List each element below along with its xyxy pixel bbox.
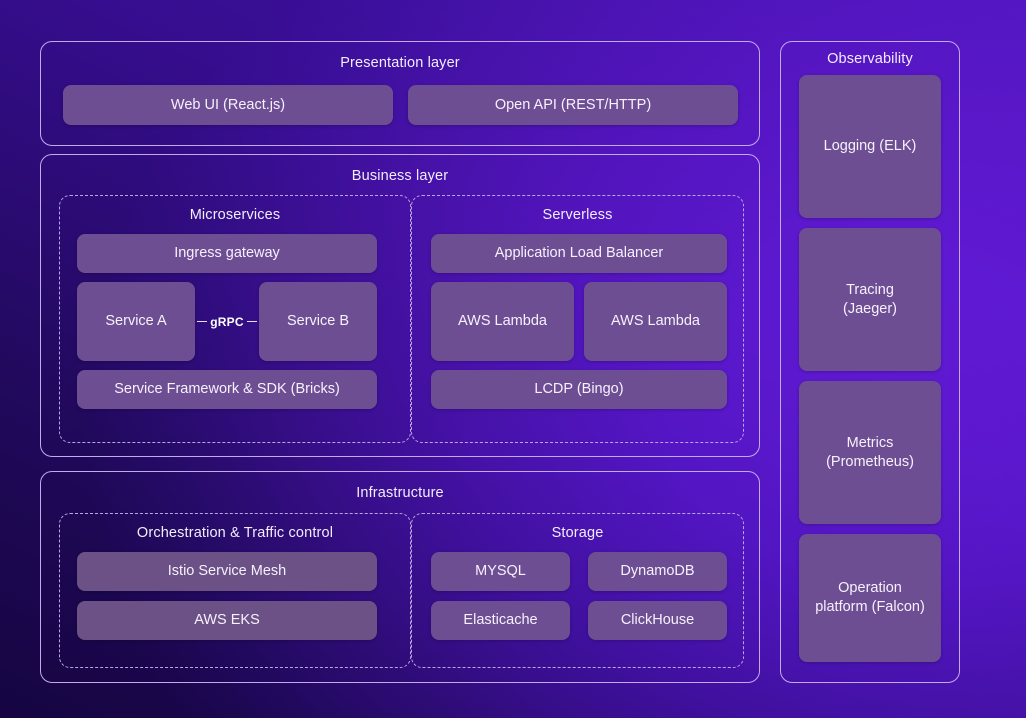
card-metrics-prometheus[interactable]: Metrics (Prometheus) xyxy=(799,381,941,524)
card-web-ui[interactable]: Web UI (React.js) xyxy=(63,85,393,125)
connector-line-right xyxy=(247,321,257,323)
architecture-diagram: Presentation layer Web UI (React.js) Ope… xyxy=(0,0,1026,718)
observability-container: Observability Logging (ELK) Tracing (Jae… xyxy=(780,41,960,683)
microservices-title: Microservices xyxy=(60,207,410,223)
card-logging-elk[interactable]: Logging (ELK) xyxy=(799,75,941,218)
card-label: Open API (REST/HTTP) xyxy=(495,96,651,115)
card-label: DynamoDB xyxy=(620,562,694,581)
card-label: Ingress gateway xyxy=(174,244,280,263)
card-label: Application Load Balancer xyxy=(495,244,663,263)
card-service-framework-sdk[interactable]: Service Framework & SDK (Bricks) xyxy=(77,370,377,409)
serverless-group: Serverless Application Load Balancer AWS… xyxy=(411,195,744,443)
card-clickhouse[interactable]: ClickHouse xyxy=(588,601,727,640)
storage-group: Storage MYSQL DynamoDB Elasticache Click… xyxy=(411,513,744,668)
serverless-title: Serverless xyxy=(412,207,743,223)
card-aws-lambda-1[interactable]: AWS Lambda xyxy=(431,282,574,361)
grpc-connector: gRPC xyxy=(195,282,259,361)
card-lcdp-bingo[interactable]: LCDP (Bingo) xyxy=(431,370,727,409)
card-mysql[interactable]: MYSQL xyxy=(431,552,570,591)
card-label: AWS Lambda xyxy=(611,312,700,331)
card-aws-eks[interactable]: AWS EKS xyxy=(77,601,377,640)
card-tracing-jaeger[interactable]: Tracing (Jaeger) xyxy=(799,228,941,371)
card-elasticache[interactable]: Elasticache xyxy=(431,601,570,640)
card-label: LCDP (Bingo) xyxy=(534,380,623,399)
observability-title: Observability xyxy=(781,51,959,67)
card-label: AWS EKS xyxy=(194,611,260,630)
card-label: Web UI (React.js) xyxy=(171,96,285,115)
grpc-label: gRPC xyxy=(210,315,243,329)
presentation-layer-container: Presentation layer Web UI (React.js) Ope… xyxy=(40,41,760,146)
card-aws-lambda-2[interactable]: AWS Lambda xyxy=(584,282,727,361)
card-label: Metrics (Prometheus) xyxy=(826,434,914,471)
card-istio-service-mesh[interactable]: Istio Service Mesh xyxy=(77,552,377,591)
card-label: Service B xyxy=(287,312,349,331)
connector-line-left xyxy=(197,321,207,323)
card-label: Logging (ELK) xyxy=(824,137,917,156)
card-service-a[interactable]: Service A xyxy=(77,282,195,361)
infrastructure-title: Infrastructure xyxy=(41,485,759,501)
infrastructure-layer-container: Infrastructure Orchestration & Traffic c… xyxy=(40,471,760,683)
card-operation-platform-falcon[interactable]: Operation platform (Falcon) xyxy=(799,534,941,662)
card-label: Elasticache xyxy=(463,611,537,630)
card-label: Service A xyxy=(105,312,166,331)
card-label: MYSQL xyxy=(475,562,526,581)
business-layer-title: Business layer xyxy=(41,168,759,184)
business-layer-container: Business layer Microservices Ingress gat… xyxy=(40,154,760,457)
card-label: Tracing (Jaeger) xyxy=(843,281,897,318)
card-label: Service Framework & SDK (Bricks) xyxy=(114,380,340,399)
card-dynamodb[interactable]: DynamoDB xyxy=(588,552,727,591)
microservices-group: Microservices Ingress gateway Service A … xyxy=(59,195,411,443)
storage-title: Storage xyxy=(412,525,743,541)
card-label: Operation platform (Falcon) xyxy=(815,579,925,616)
presentation-layer-title: Presentation layer xyxy=(41,55,759,71)
card-ingress-gateway[interactable]: Ingress gateway xyxy=(77,234,377,273)
orchestration-title: Orchestration & Traffic control xyxy=(60,525,410,541)
card-application-load-balancer[interactable]: Application Load Balancer xyxy=(431,234,727,273)
card-service-b[interactable]: Service B xyxy=(259,282,377,361)
orchestration-group: Orchestration & Traffic control Istio Se… xyxy=(59,513,411,668)
card-label: ClickHouse xyxy=(621,611,694,630)
card-open-api[interactable]: Open API (REST/HTTP) xyxy=(408,85,738,125)
card-label: Istio Service Mesh xyxy=(168,562,286,581)
card-label: AWS Lambda xyxy=(458,312,547,331)
